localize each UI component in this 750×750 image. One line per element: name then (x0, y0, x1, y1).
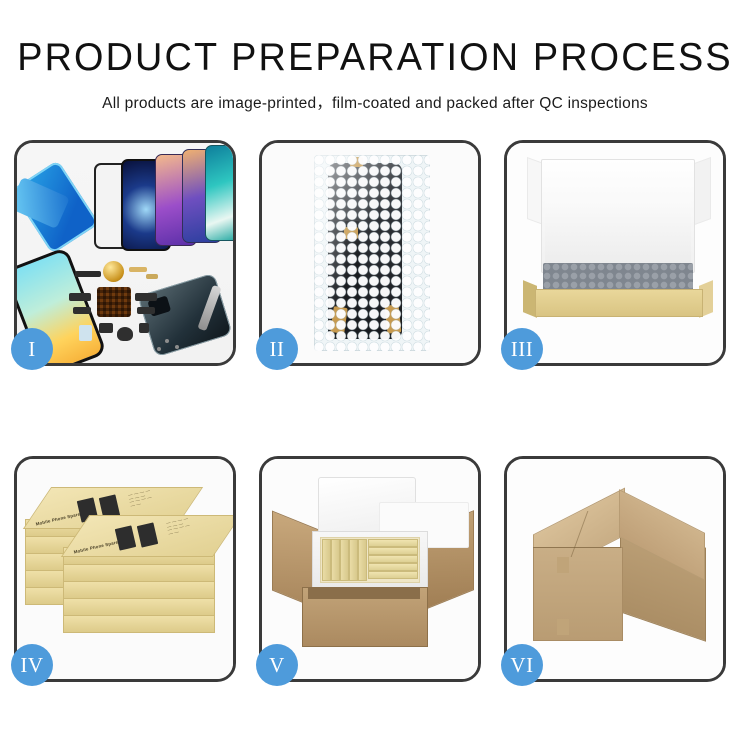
page-subtitle: All products are image-printed，film-coat… (0, 91, 750, 113)
process-step-6[interactable]: VI (504, 456, 726, 682)
step-badge-3: III (501, 328, 543, 370)
packed-box-vertical (331, 539, 340, 581)
screw-part (157, 347, 161, 351)
packed-box-vertical (358, 539, 367, 581)
spare-parts-box (63, 615, 215, 633)
packed-box-vertical (322, 539, 331, 581)
process-step-grid: I II (14, 140, 736, 682)
carton-seam (533, 547, 621, 548)
packed-box-horizontal (368, 555, 418, 563)
step-1-image (17, 143, 233, 363)
step-2-image (262, 143, 478, 363)
packed-box-horizontal (368, 563, 418, 571)
process-step-4[interactable]: Mobile Phone Spare Parts— — — —— — —— — … (14, 456, 236, 682)
small-part (73, 307, 91, 314)
packed-box-horizontal (368, 547, 418, 555)
packed-box-horizontal (368, 571, 418, 579)
phone-back-housing (137, 273, 232, 358)
step-4-image: Mobile Phone Spare Parts— — — —— — —— — … (17, 459, 233, 679)
foam-lid (318, 477, 416, 535)
bag-sheen (314, 155, 430, 351)
carton-tape-upper (557, 557, 569, 573)
small-part (129, 267, 147, 272)
small-part (146, 274, 158, 279)
small-part (137, 307, 155, 314)
bubble-wrapped-items (543, 263, 693, 291)
step-3-image (507, 143, 723, 363)
step-badge-4: IV (11, 644, 53, 686)
page-header: PRODUCT PREPARATION PROCESS All products… (0, 0, 750, 113)
step-badge-1: I (11, 328, 53, 370)
process-step-2[interactable]: II (259, 140, 481, 366)
carton-tape-lower (557, 619, 569, 635)
phone-display-teal (205, 145, 233, 241)
small-part (99, 323, 113, 333)
gold-coil-part (103, 261, 124, 282)
spare-parts-box (63, 598, 215, 616)
carton-inner-edge (308, 587, 420, 599)
page-title: PRODUCT PREPARATION PROCESS (11, 38, 739, 77)
small-part (69, 293, 91, 301)
step-6-image (507, 459, 723, 679)
small-part (135, 293, 157, 301)
step-badge-2: II (256, 328, 298, 370)
step-badge-6: VI (501, 644, 543, 686)
small-part (139, 323, 149, 333)
screw-part (175, 345, 179, 349)
packed-box-horizontal (368, 539, 418, 547)
packed-box-vertical (340, 539, 349, 581)
chip-grid-part (97, 287, 131, 317)
process-step-1[interactable]: I (14, 140, 236, 366)
process-step-3[interactable]: III (504, 140, 726, 366)
step-5-image (262, 459, 478, 679)
foam-inner (545, 201, 691, 263)
blue-adhesive-film (17, 160, 99, 254)
small-part (79, 325, 92, 341)
packed-box-vertical (349, 539, 358, 581)
carton-front-face (533, 547, 623, 641)
kraft-box-front (535, 289, 703, 317)
spare-parts-box (63, 581, 215, 599)
small-part (75, 271, 101, 277)
spare-parts-box (63, 564, 215, 582)
step-badge-5: V (256, 644, 298, 686)
screw-part (165, 339, 169, 343)
small-part (117, 327, 133, 341)
process-step-5[interactable]: V (259, 456, 481, 682)
